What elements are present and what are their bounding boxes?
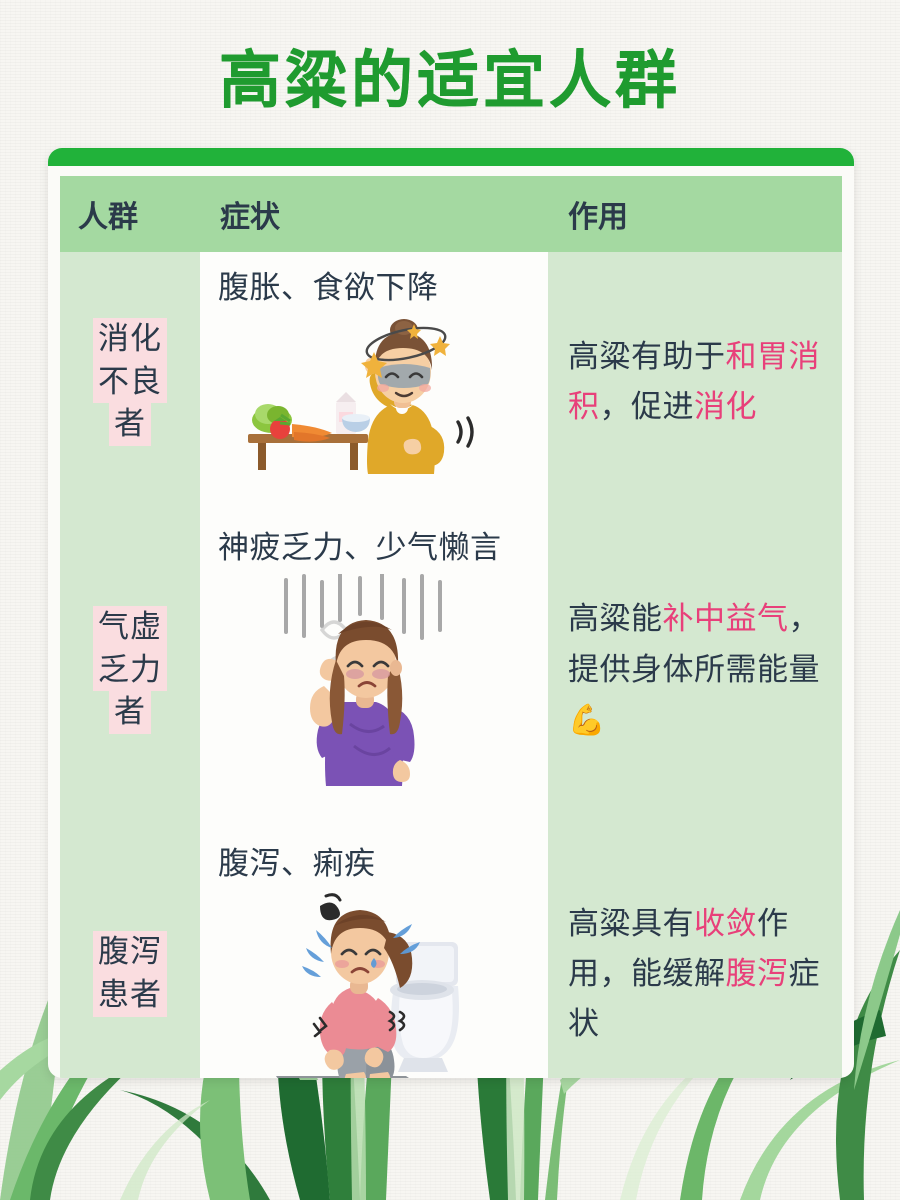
group-label-stack: 腹泻 患者 — [60, 828, 200, 1078]
group-label-stack: 气虚 乏力 者 — [60, 512, 200, 828]
cell-group: 腹泻 患者 — [60, 828, 200, 1078]
woman-dizzy-no-appetite-at-table-illustration — [218, 314, 540, 479]
group-label-line: 者 — [109, 691, 151, 734]
group-label-line: 气虚 — [93, 606, 167, 649]
effect-text: 高粱能补中益气，提供身体所需能量💪 — [568, 594, 828, 745]
suitable-people-table: 人群 症状 作用 消化 不良 者 — [60, 176, 842, 1078]
page-title-text: 高粱的适宜人群 — [219, 29, 681, 119]
table-row: 腹泻 患者 腹泻、痢疾 — [60, 828, 842, 1078]
symptom-text: 腹胀、食欲下降 — [218, 266, 540, 310]
effect-text: 高粱具有收敛作用，能缓解腹泻症状 — [568, 899, 828, 1050]
cell-group: 消化 不良 者 — [60, 252, 200, 512]
effect-text: 高粱有助于和胃消积，促进消化 — [568, 332, 828, 432]
column-header-effect: 作用 — [548, 176, 842, 252]
cell-group: 气虚 乏力 者 — [60, 512, 200, 828]
symptom-text: 神疲乏力、少气懒言 — [218, 526, 540, 570]
group-label-line: 消化 — [93, 318, 167, 361]
woman-fatigued-headache-illustration — [218, 574, 540, 789]
table-row: 消化 不良 者 腹胀、食欲下降 — [60, 252, 842, 512]
group-label-line: 乏力 — [93, 649, 167, 692]
table-header-row: 人群 症状 作用 — [60, 176, 842, 252]
table-header: 人群 症状 作用 — [60, 176, 842, 252]
cell-effect: 高粱具有收敛作用，能缓解腹泻症状 — [548, 828, 842, 1078]
page-title: 高粱的适宜人群 — [0, 0, 900, 148]
column-header-symptom: 症状 — [200, 176, 548, 252]
flexed-biceps-emoji: 💪 — [568, 704, 606, 737]
group-label-line: 者 — [109, 403, 151, 446]
group-label-line: 不良 — [93, 361, 167, 404]
column-header-group: 人群 — [60, 176, 200, 252]
group-label-line: 腹泻 — [93, 931, 167, 974]
symptom-text: 腹泻、痢疾 — [218, 842, 540, 886]
group-label-line: 患者 — [93, 974, 167, 1017]
card-top-accent-bar — [48, 148, 854, 166]
cell-symptom: 腹胀、食欲下降 — [200, 252, 548, 512]
table-row: 气虚 乏力 者 神疲乏力、少气懒言 — [60, 512, 842, 828]
table-body: 消化 不良 者 腹胀、食欲下降 — [60, 252, 842, 1078]
cell-effect: 高粱能补中益气，提供身体所需能量💪 — [548, 512, 842, 828]
cell-effect: 高粱有助于和胃消积，促进消化 — [548, 252, 842, 512]
cell-symptom: 神疲乏力、少气懒言 — [200, 512, 548, 828]
content-card: 人群 症状 作用 消化 不良 者 — [48, 148, 854, 1078]
woman-diarrhea-on-toilet-illustration — [218, 890, 540, 1078]
group-label-stack: 消化 不良 者 — [60, 252, 200, 512]
cell-symptom: 腹泻、痢疾 — [200, 828, 548, 1078]
